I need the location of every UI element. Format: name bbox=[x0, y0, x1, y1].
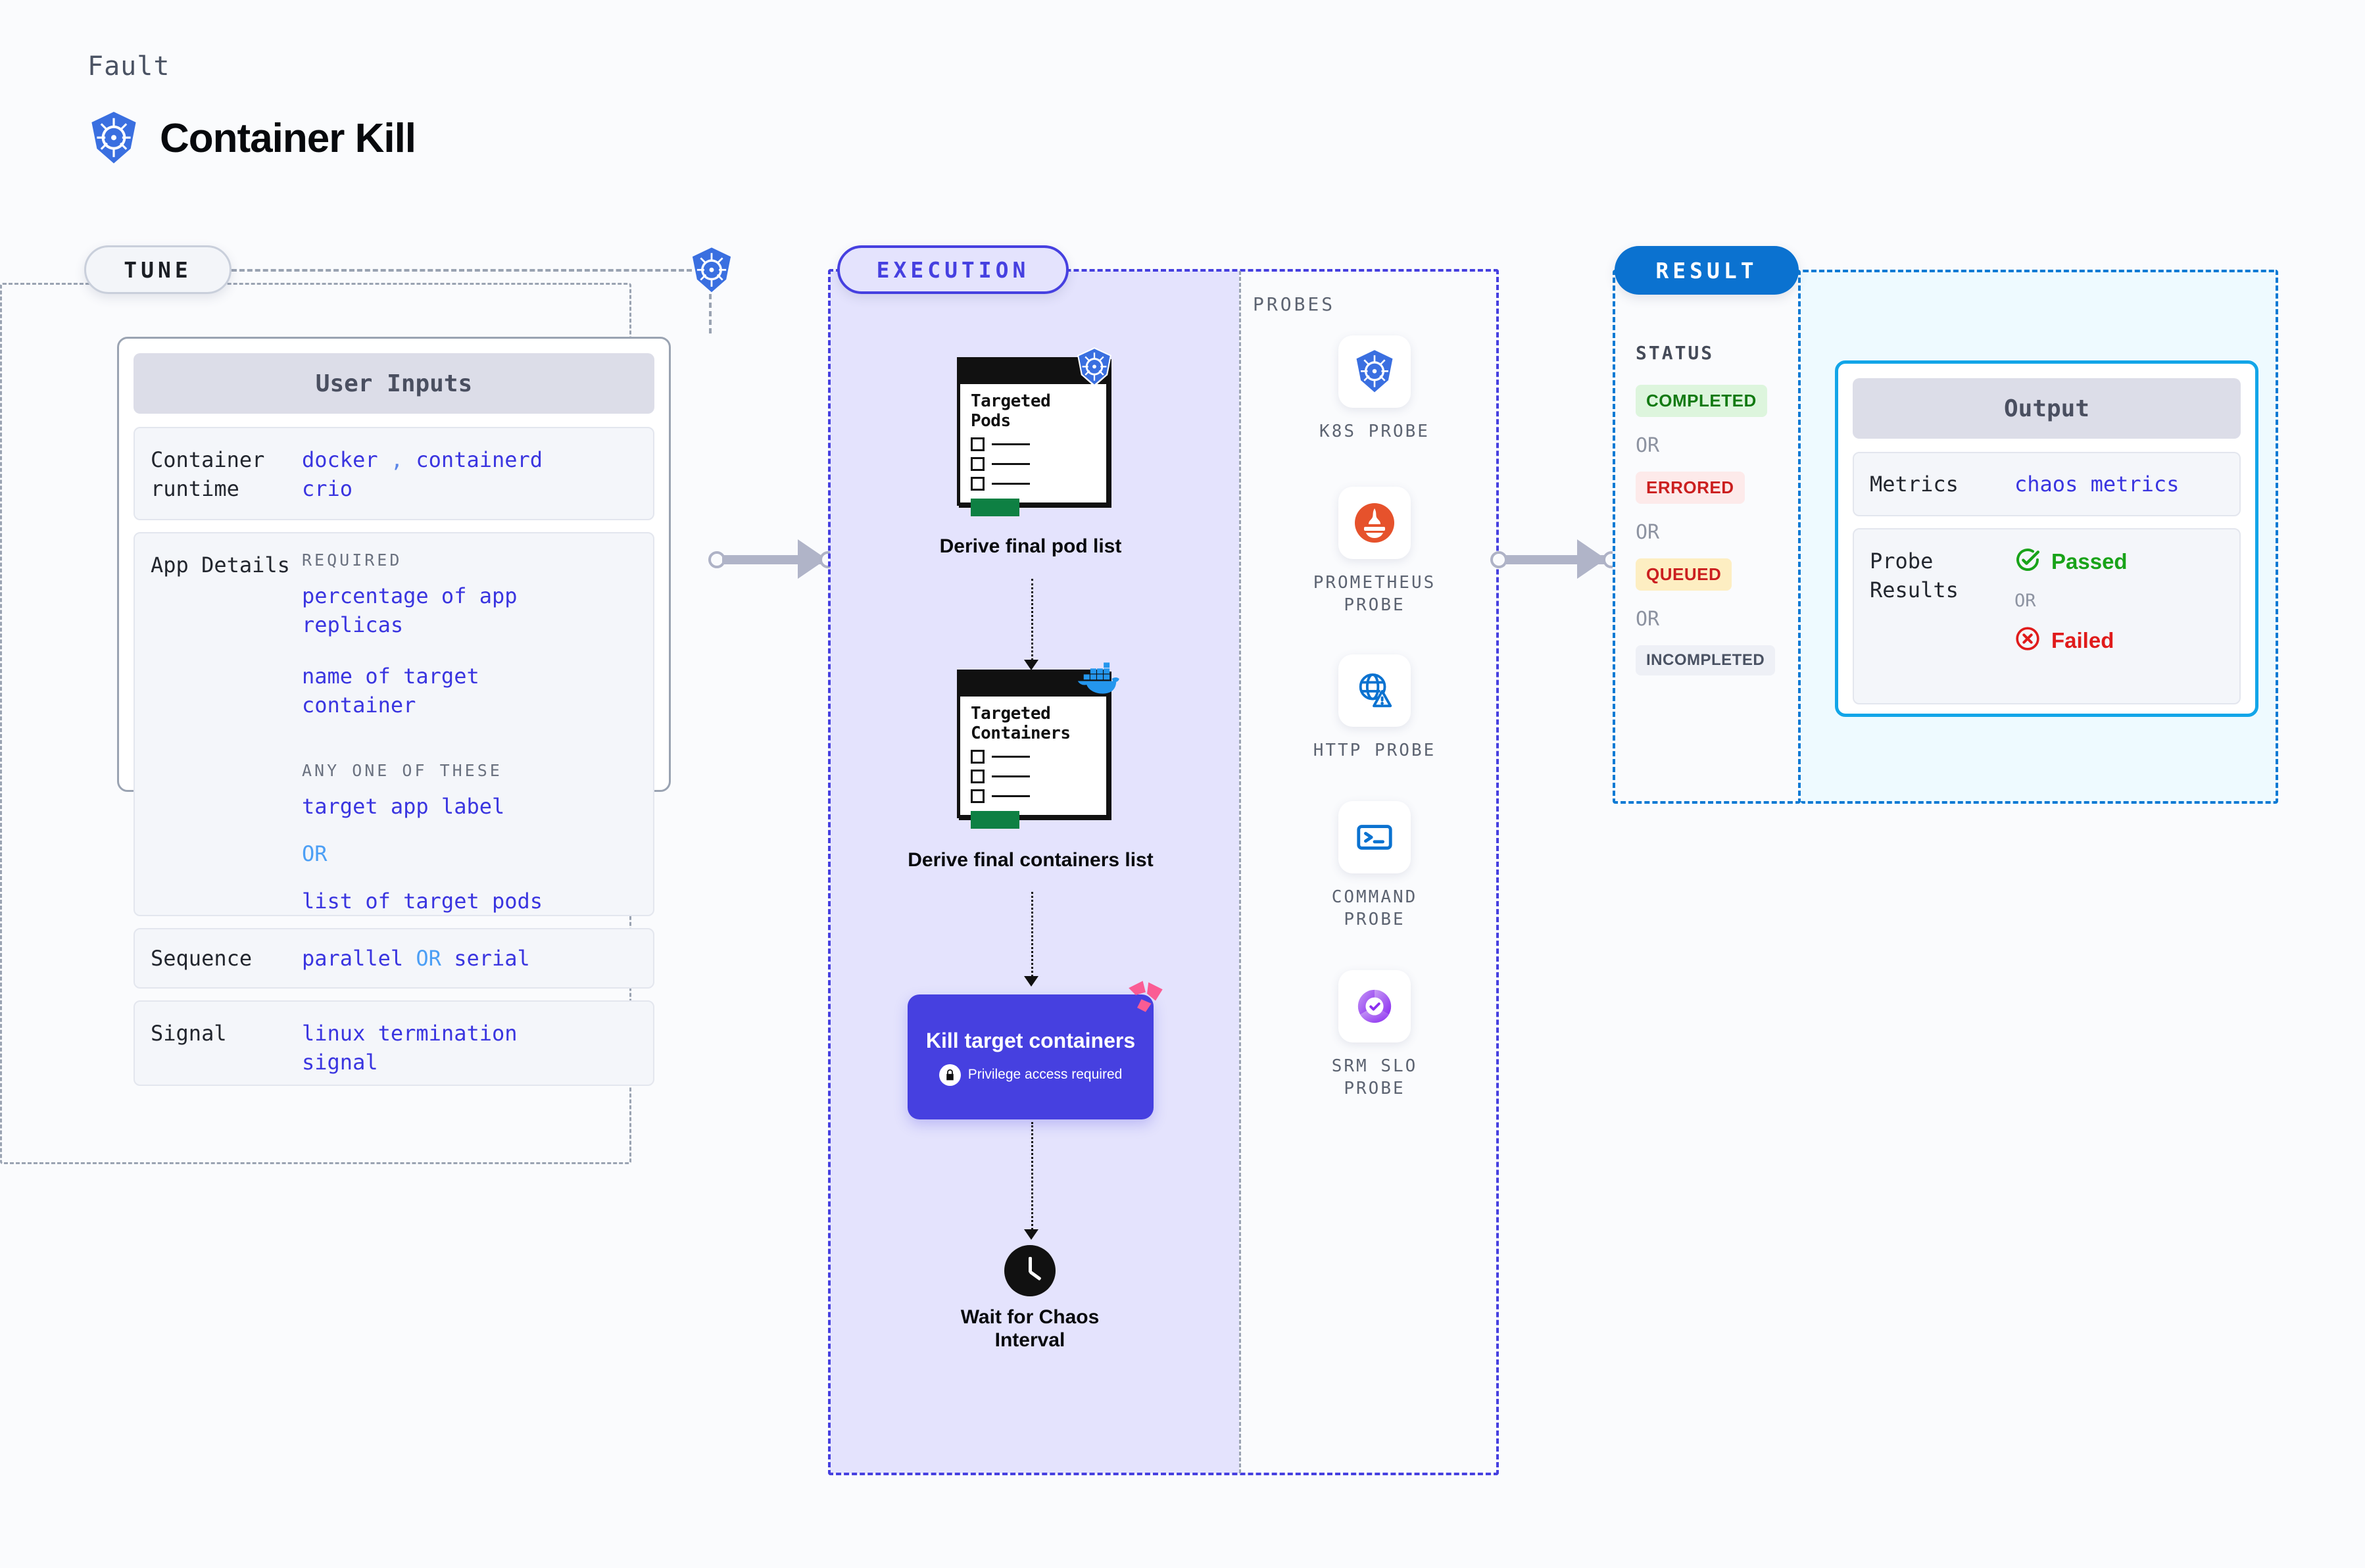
flow-connector-3 bbox=[1031, 1122, 1033, 1234]
row-metrics: Metrics chaos metrics bbox=[1853, 452, 2241, 516]
or-label: OR bbox=[1636, 608, 1800, 631]
row-value: list of target pods bbox=[302, 887, 637, 916]
probe-result-failed: Failed bbox=[2014, 625, 2224, 655]
prometheus-icon bbox=[1338, 487, 1411, 559]
user-inputs-card: User Inputs Containerruntime docker , co… bbox=[117, 337, 671, 792]
step-label-wait: Wait for Chaos Interval bbox=[934, 1306, 1126, 1352]
row-key: Metrics bbox=[1870, 470, 2014, 499]
flow-arrow-1 bbox=[1024, 660, 1038, 670]
clock-icon bbox=[1004, 1245, 1056, 1296]
status-badge-incompleted: INCOMPLETED bbox=[1636, 645, 1775, 675]
output-card: Output Metrics chaos metrics ProbeResult… bbox=[1835, 360, 2258, 717]
step-label-derive-pods: Derive final pod list bbox=[902, 535, 1159, 558]
status-badge-queued: QUEUED bbox=[1636, 558, 1732, 591]
probe-command[interactable]: COMMANDPROBE bbox=[1292, 801, 1457, 931]
flow-connector-2 bbox=[1031, 892, 1033, 981]
page-title: Container Kill bbox=[160, 115, 416, 162]
row-value: name of targetcontainer bbox=[302, 662, 637, 720]
row-value: target app label bbox=[302, 792, 637, 821]
lock-icon bbox=[939, 1064, 961, 1086]
row-value: parallel OR serial bbox=[302, 944, 530, 973]
probe-label: PROMETHEUSPROBE bbox=[1292, 572, 1457, 617]
kubernetes-icon bbox=[689, 247, 735, 294]
list-item bbox=[971, 789, 1096, 803]
row-key: App Details bbox=[151, 551, 302, 898]
probe-result-passed: Passed bbox=[2014, 547, 2224, 576]
line-placeholder bbox=[992, 756, 1030, 758]
probe-k8s[interactable]: K8S PROBE bbox=[1292, 335, 1457, 443]
probe-label: COMMANDPROBE bbox=[1292, 887, 1457, 931]
row-signal: Signal linux terminationsignal bbox=[134, 1000, 654, 1086]
or-label: OR bbox=[1636, 434, 1800, 457]
flow-arrow-2 bbox=[1024, 976, 1038, 987]
line-placeholder bbox=[992, 443, 1030, 445]
row-key: Sequence bbox=[151, 944, 302, 973]
kill-target-containers-action[interactable]: Kill target containers Privilege access … bbox=[908, 994, 1154, 1119]
or-label: OR bbox=[1636, 521, 1800, 544]
status-caption: STATUS bbox=[1636, 342, 1800, 364]
progress-bar bbox=[971, 811, 1019, 829]
row-app-details: App Details REQUIRED percentage of appre… bbox=[134, 532, 654, 916]
terminal-icon bbox=[1338, 801, 1411, 873]
execution-pill[interactable]: EXECUTION bbox=[837, 245, 1069, 294]
group-label-anyone: ANY ONE OF THESE bbox=[302, 761, 637, 780]
flow-connector-1 bbox=[1031, 579, 1033, 664]
check-circle-icon bbox=[2014, 547, 2041, 576]
row-sequence: Sequence parallel OR serial bbox=[134, 928, 654, 989]
list-item bbox=[971, 477, 1096, 491]
line-placeholder bbox=[992, 463, 1030, 465]
row-value-or: OR bbox=[302, 839, 637, 868]
srm-slo-icon bbox=[1338, 970, 1411, 1042]
failed-label: Failed bbox=[2051, 628, 2114, 653]
flow-arrow-3 bbox=[1024, 1229, 1038, 1240]
row-key: Containerruntime bbox=[151, 445, 302, 502]
checkbox-icon bbox=[971, 750, 985, 764]
row-value: docker , containerdcrio bbox=[302, 445, 543, 502]
checkbox-icon bbox=[971, 457, 985, 471]
probes-caption: PROBES bbox=[1253, 293, 1335, 315]
probe-http[interactable]: HTTP PROBE bbox=[1292, 654, 1457, 762]
status-badge-errored: ERRORED bbox=[1636, 472, 1745, 504]
row-container-runtime: Containerruntime docker , containerdcrio bbox=[134, 427, 654, 520]
output-header: Output bbox=[1853, 378, 2241, 439]
result-pill[interactable]: RESULT bbox=[1615, 246, 1799, 295]
probe-label: K8S PROBE bbox=[1292, 421, 1457, 443]
page-title-row: Container Kill bbox=[87, 110, 416, 166]
checkbox-icon bbox=[971, 437, 985, 451]
group-label-required: REQUIRED bbox=[302, 551, 637, 570]
passed-label: Passed bbox=[2051, 549, 2128, 574]
connector-arrow-2 bbox=[1577, 539, 1606, 579]
eyebrow-label: Fault bbox=[87, 51, 170, 82]
tune-connector-dash-down bbox=[709, 294, 712, 333]
step-label-derive-containers: Derive final containers list bbox=[885, 848, 1177, 871]
row-key: Signal bbox=[151, 1019, 302, 1067]
checkbox-icon bbox=[971, 770, 985, 783]
row-value: linux terminationsignal bbox=[302, 1019, 518, 1067]
line-placeholder bbox=[992, 775, 1030, 777]
card-title: TargetedPods bbox=[971, 392, 1096, 431]
x-circle-icon bbox=[2014, 625, 2041, 655]
probe-prometheus[interactable]: PROMETHEUSPROBE bbox=[1292, 487, 1457, 617]
probes-divider bbox=[1239, 271, 1241, 1473]
action-title: Kill target containers bbox=[926, 1028, 1135, 1053]
tune-connector-dash bbox=[232, 269, 692, 272]
list-item bbox=[971, 770, 1096, 783]
or-label: OR bbox=[2014, 591, 2224, 611]
probe-label: SRM SLOPROBE bbox=[1292, 1056, 1457, 1100]
kubernetes-icon bbox=[1075, 347, 1113, 387]
tune-pill[interactable]: TUNE bbox=[84, 245, 232, 294]
list-item bbox=[971, 437, 1096, 451]
row-probe-results: ProbeResults Passed OR bbox=[1853, 528, 2241, 704]
user-inputs-header: User Inputs bbox=[134, 353, 654, 414]
line-placeholder bbox=[992, 795, 1030, 797]
http-globe-icon bbox=[1338, 654, 1411, 727]
docker-icon bbox=[1073, 661, 1121, 695]
list-item bbox=[971, 750, 1096, 764]
litmus-icon bbox=[1127, 979, 1165, 1014]
list-item bbox=[971, 457, 1096, 471]
status-badge-completed: COMPLETED bbox=[1636, 385, 1767, 417]
kubernetes-icon bbox=[1338, 335, 1411, 408]
row-value: percentage of appreplicas bbox=[302, 581, 637, 639]
kubernetes-icon bbox=[87, 110, 140, 166]
row-key: ProbeResults bbox=[1870, 547, 2014, 686]
line-placeholder bbox=[992, 483, 1030, 485]
probe-srm-slo[interactable]: SRM SLOPROBE bbox=[1292, 970, 1457, 1100]
progress-bar bbox=[971, 499, 1019, 516]
action-note: Privilege access required bbox=[968, 1067, 1123, 1083]
row-value: chaos metrics bbox=[2014, 470, 2179, 499]
probe-label: HTTP PROBE bbox=[1292, 740, 1457, 762]
checkbox-icon bbox=[971, 477, 985, 491]
card-title: TargetedContainers bbox=[971, 704, 1096, 744]
checkbox-icon bbox=[971, 789, 985, 803]
